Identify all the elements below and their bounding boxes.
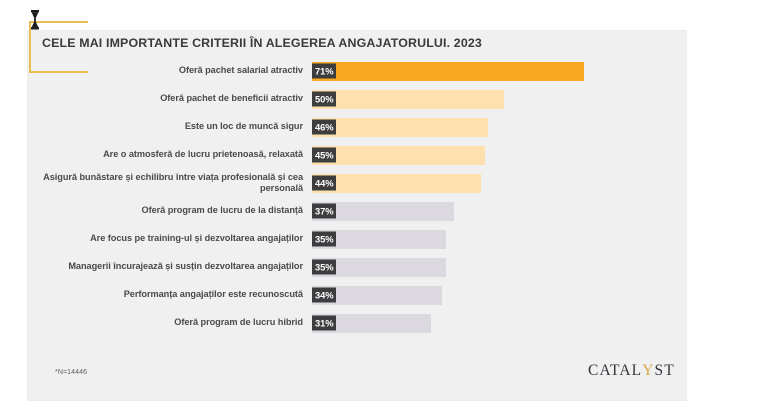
bar-value-label: 44% [312,176,336,191]
bar: 44% [312,174,481,193]
bar-value-label: 45% [312,148,336,163]
bar-chart: Oferă pachet salarial atractiv71%Oferă p… [0,57,658,337]
bar: 35% [312,258,446,277]
catalyst-logo: CATALYST [588,362,675,380]
bar-track: 31% [312,309,658,337]
page-title: CELE MAI IMPORTANTE CRITERII ÎN ALEGEREA… [42,36,482,50]
bar-category-label: Are focus pe training-ul și dezvoltarea … [0,233,312,245]
bar-row: Oferă pachet salarial atractiv71% [0,57,658,85]
bar-category-label: Oferă program de lucru de la distanță [0,205,312,217]
bar-track: 37% [312,197,658,225]
bar-value-label: 31% [312,316,336,331]
bar: 35% [312,230,446,249]
bar-row: Oferă pachet de beneficii atractiv50% [0,85,658,113]
bar-value-label: 50% [312,92,336,107]
bar-track: 46% [312,113,658,141]
bar-category-label: Asigură bunăstare și echilibru între via… [0,172,312,195]
bar-row: Oferă program de lucru hibrid31% [0,309,658,337]
logo-text-before: CATAL [588,362,642,379]
bar-row: Este un loc de muncă sigur46% [0,113,658,141]
bar-row: Performanța angajaților este recunoscută… [0,281,658,309]
bar: 50% [312,90,504,109]
bar-value-label: 37% [312,204,336,219]
logo-y-mark: Y [642,362,654,380]
bar: 45% [312,146,485,165]
bar-category-label: Managerii încurajează și susțin dezvolta… [0,261,312,273]
bar-row: Oferă program de lucru de la distanță37% [0,197,658,225]
bar-category-label: Oferă pachet de beneficii atractiv [0,93,312,105]
footnote: *N=14446 [55,369,87,376]
bar-category-label: Este un loc de muncă sigur [0,121,312,133]
bar-row: Are o atmosferă de lucru prietenoasă, re… [0,141,658,169]
bar-category-label: Oferă pachet salarial atractiv [0,65,312,77]
bar-category-label: Performanța angajaților este recunoscută [0,289,312,301]
bar-track: 35% [312,253,658,281]
bar: 71% [312,62,584,81]
bar-track: 35% [312,225,658,253]
bar-value-label: 35% [312,260,336,275]
bar-row: Managerii încurajează și susțin dezvolta… [0,253,658,281]
bar-track: 44% [312,169,658,197]
logo-text-after: ST [655,362,675,379]
bar: 37% [312,202,454,221]
bar-category-label: Are o atmosferă de lucru prietenoasă, re… [0,149,312,161]
bar-value-label: 35% [312,232,336,247]
bar-value-label: 71% [312,64,336,79]
bar-category-label: Oferă program de lucru hibrid [0,317,312,329]
bar-track: 34% [312,281,658,309]
bar-value-label: 34% [312,288,336,303]
bar: 46% [312,118,488,137]
chart-page: CELE MAI IMPORTANTE CRITERII ÎN ALEGEREA… [0,0,759,420]
bar: 34% [312,286,442,305]
bar-row: Are focus pe training-ul și dezvoltarea … [0,225,658,253]
bar-track: 50% [312,85,658,113]
bar: 31% [312,314,431,333]
bar-track: 45% [312,141,658,169]
bar-track: 71% [312,57,658,85]
bar-value-label: 46% [312,120,336,135]
bar-row: Asigură bunăstare și echilibru între via… [0,169,658,197]
